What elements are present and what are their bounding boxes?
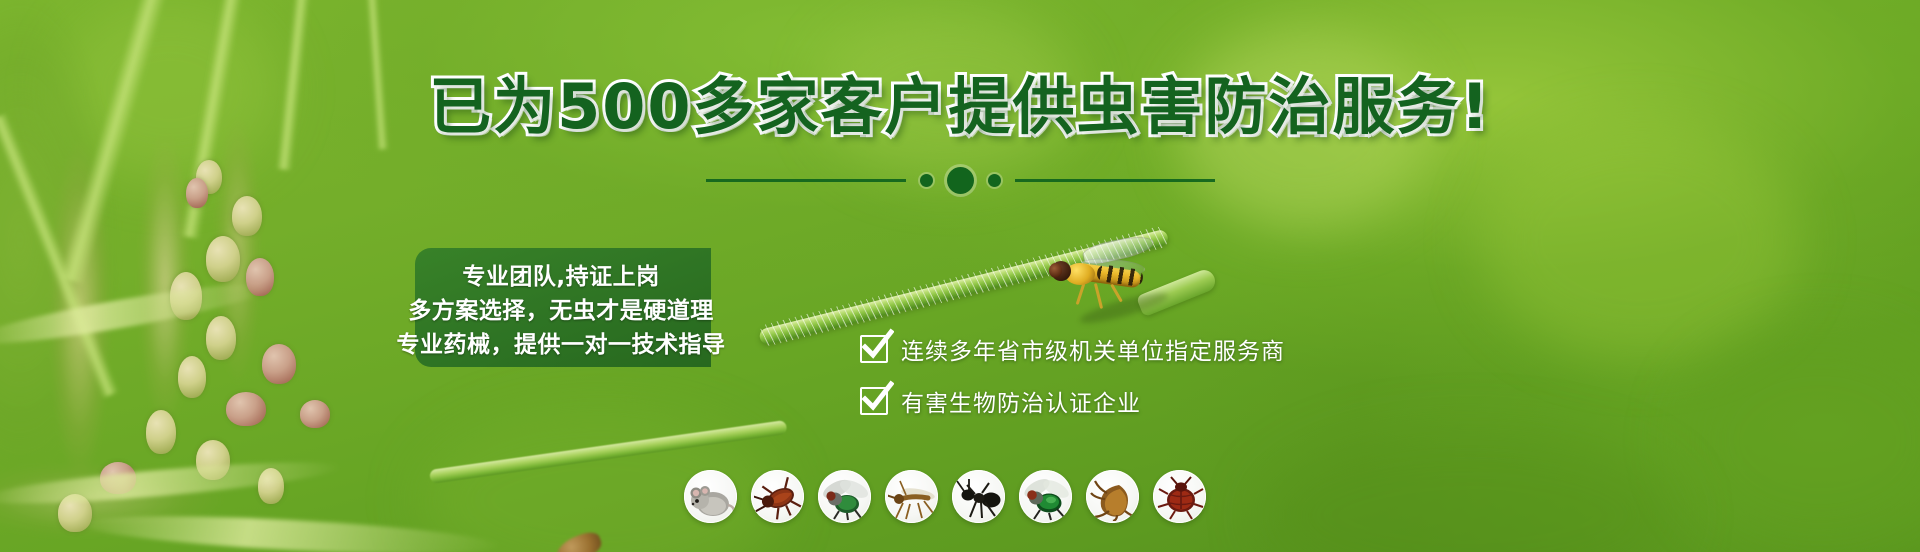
plant-bud	[262, 344, 296, 384]
checkbox-checked-icon	[860, 335, 888, 363]
plant-bud	[178, 356, 206, 398]
pest-icon-row: 鼠 蟑螂	[684, 470, 1206, 523]
pest-icon-mosquito[interactable]: 蚊子	[885, 470, 938, 523]
pest-icon-blowfly[interactable]: 苍蝇	[818, 470, 871, 523]
promo-banner: 已为500多家客户提供虫害防治服务! 专业团队,持证上岗 多方案选择，无虫才是硬…	[0, 0, 1920, 552]
decor-dot-small	[988, 174, 1001, 187]
fly-leg	[1110, 284, 1123, 303]
hover-fly-icon	[1045, 245, 1175, 315]
plant-bud	[146, 410, 176, 454]
plant-bud	[226, 392, 266, 426]
decor-dot-large	[947, 167, 974, 194]
fly-eye	[1049, 263, 1062, 278]
bokeh-blob	[1480, 120, 1800, 360]
pest-icon-bedbug[interactable]: 臭虫	[1153, 470, 1206, 523]
plant-bud	[232, 196, 262, 236]
divider-line-right	[1015, 179, 1215, 182]
pest-icon-mouse[interactable]: 鼠	[684, 470, 737, 523]
decor-dot-small	[920, 174, 933, 187]
panel-line-3: 专业药械，提供一对一技术指导	[397, 325, 726, 359]
plant-bud	[206, 236, 240, 282]
plant-bud	[206, 316, 236, 360]
pest-icon-ant[interactable]: 蚂蚁	[952, 470, 1005, 523]
list-item: 连续多年省市级机关单位指定服务商	[860, 332, 1560, 366]
credential-label: 有害生物防治认证企业	[901, 384, 1141, 418]
plant-bud	[300, 400, 330, 428]
pest-icon-greenbottle-fly[interactable]: 绿头蝇	[1019, 470, 1072, 523]
headline-container: 已为500多家客户提供虫害防治服务!	[0, 76, 1920, 138]
panel-line-1: 专业团队,持证上岗	[462, 257, 659, 291]
pest-icon-flea[interactable]: 跳蚤	[1086, 470, 1139, 523]
credentials-list: 连续多年省市级机关单位指定服务商 有害生物防治认证企业	[860, 332, 1560, 436]
list-item: 有害生物防治认证企业	[860, 384, 1560, 418]
pest-icon-cockroach[interactable]: 蟑螂	[751, 470, 804, 523]
credential-label: 连续多年省市级机关单位指定服务商	[901, 332, 1285, 366]
selling-points-panel: 专业团队,持证上岗 多方案选择，无虫才是硬道理 专业药械，提供一对一技术指导	[415, 248, 711, 367]
divider-line-left	[706, 179, 906, 182]
decorative-divider	[0, 160, 1920, 200]
fly-leg	[1094, 283, 1103, 309]
panel-line-2: 多方案选择，无虫才是硬道理	[408, 291, 714, 325]
page-title: 已为500多家客户提供虫害防治服务!	[429, 76, 1491, 138]
checkbox-checked-icon	[860, 387, 888, 415]
fly-leg	[1076, 283, 1086, 305]
